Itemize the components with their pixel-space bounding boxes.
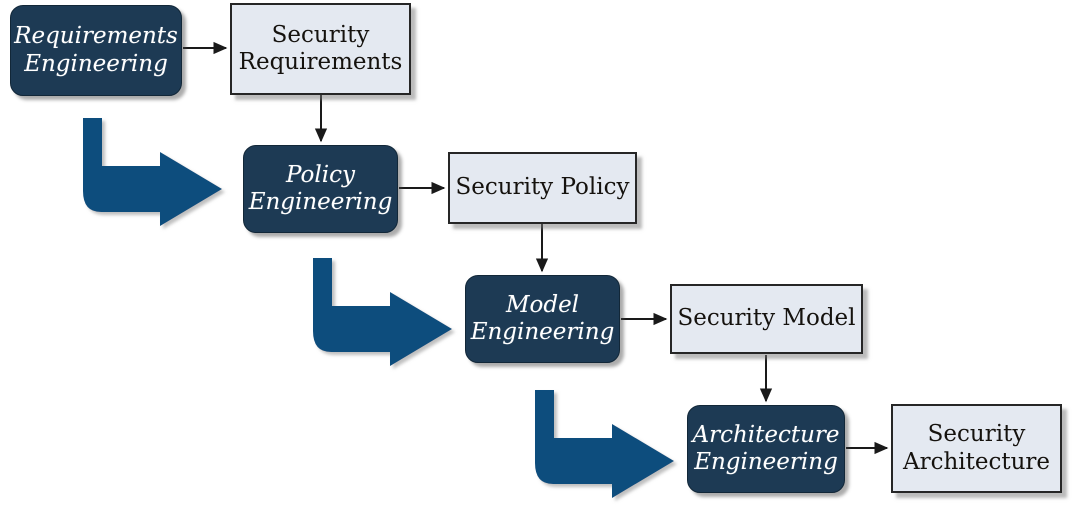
node-label-line: Engineering: [249, 189, 393, 216]
node-label-line: Model: [506, 292, 579, 319]
node-label-line: Engineering: [694, 449, 838, 476]
flow-arrow-2: [313, 258, 452, 366]
node-label-line: Security Policy: [456, 174, 630, 201]
node-security-architecture[interactable]: Security Architecture: [891, 404, 1062, 493]
node-label-line: Engineering: [471, 319, 615, 346]
node-label-line: Policy: [286, 162, 355, 189]
node-policy-engineering[interactable]: Policy Engineering: [243, 145, 398, 233]
diagram-canvas: Requirements Engineering Security Requir…: [0, 0, 1075, 505]
node-label-line: Security: [272, 22, 370, 49]
node-label-line: Architecture: [692, 422, 839, 449]
node-label-line: Engineering: [24, 51, 168, 78]
node-requirements-engineering[interactable]: Requirements Engineering: [10, 5, 182, 96]
node-label-line: Architecture: [903, 449, 1050, 476]
node-security-policy[interactable]: Security Policy: [448, 152, 637, 224]
node-label-line: Requirements: [14, 23, 178, 50]
node-model-engineering[interactable]: Model Engineering: [465, 275, 620, 363]
node-label-line: Security Model: [677, 305, 855, 332]
flow-arrow-3: [535, 390, 674, 498]
node-security-requirements[interactable]: Security Requirements: [230, 3, 411, 95]
flow-arrow-1: [83, 118, 222, 226]
node-security-model[interactable]: Security Model: [670, 284, 863, 354]
node-architecture-engineering[interactable]: Architecture Engineering: [687, 405, 845, 493]
node-label-line: Security: [928, 421, 1026, 448]
node-label-line: Requirements: [239, 49, 403, 76]
